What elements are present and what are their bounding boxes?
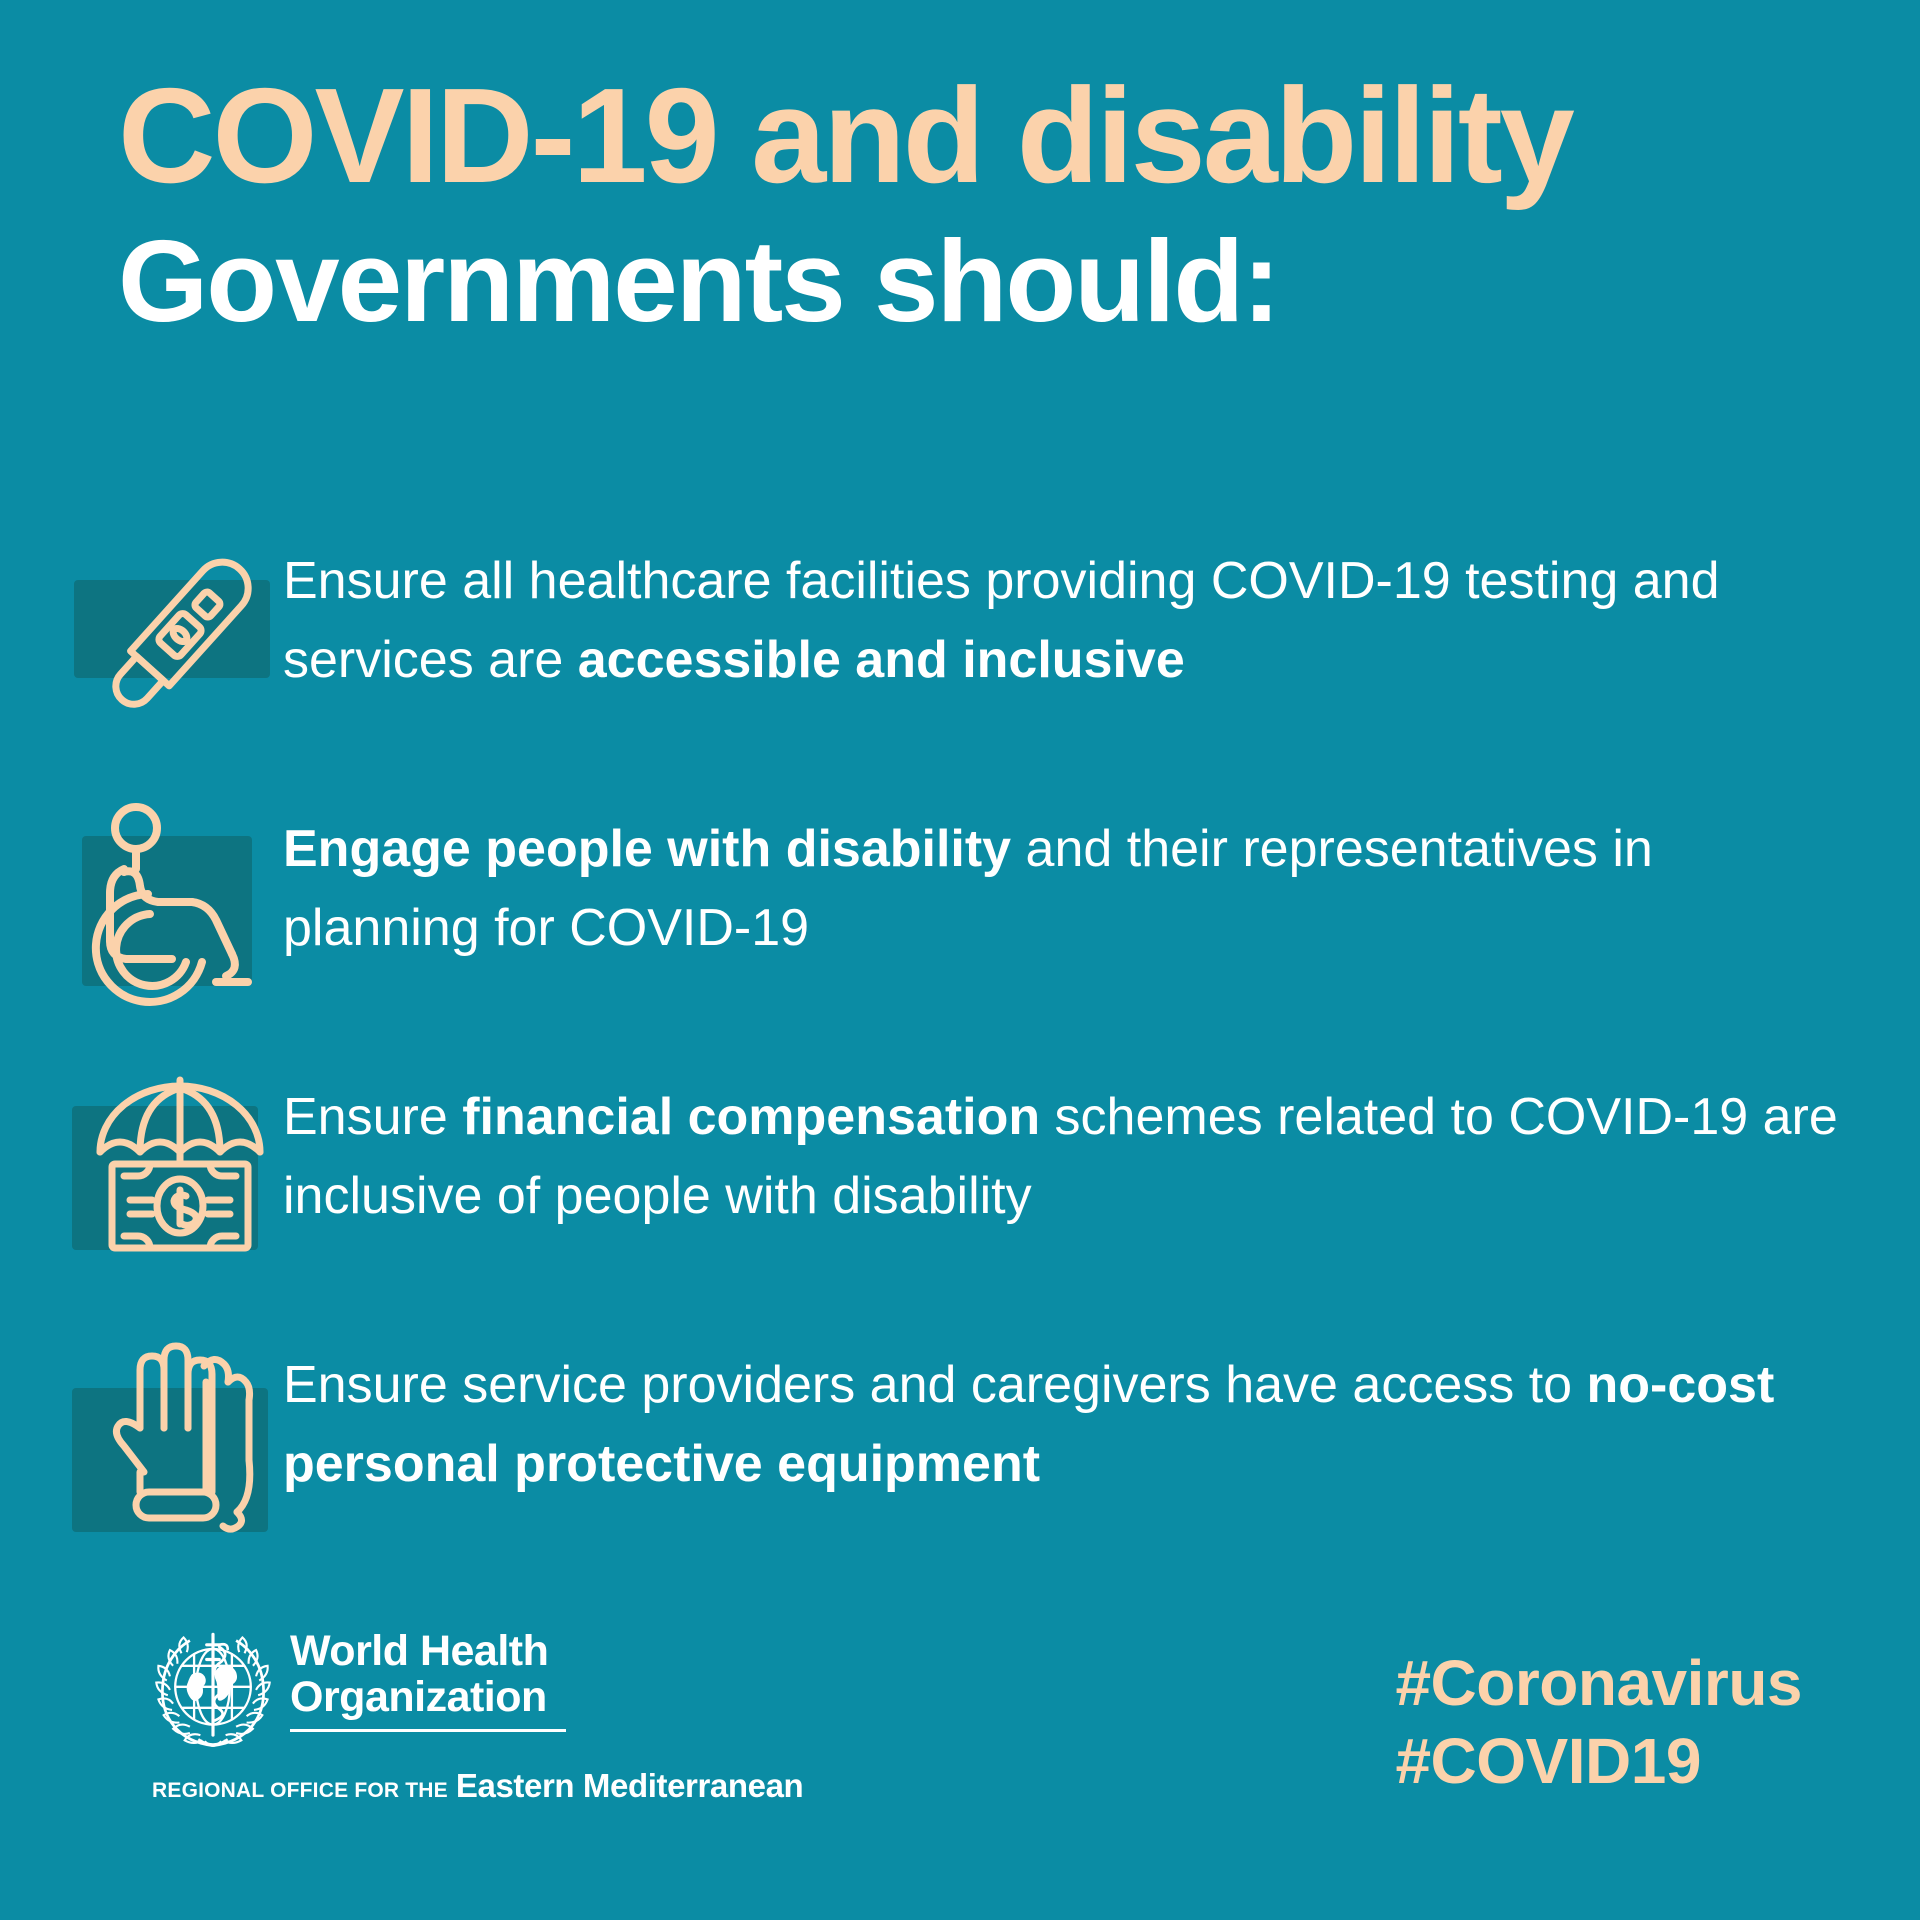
list-item-text: Ensure service providers and caregivers …	[283, 1332, 1860, 1504]
list-item: Ensure service providers and caregivers …	[78, 1332, 1860, 1600]
region-prefix: REGIONAL OFFICE FOR THE	[152, 1779, 448, 1803]
infographic-root: { "colors": { "background": "#0b8ca4", "…	[0, 0, 1920, 1920]
page-header: COVID-19 and disability Governments shou…	[0, 0, 1920, 353]
who-line-2: Organization	[290, 1674, 566, 1720]
text-segment-bold: financial compensation	[462, 1088, 1040, 1146]
list-item-text: Ensure financial compensation schemes re…	[283, 1064, 1860, 1236]
text-segment-bold: Engage people with disability	[283, 820, 1011, 878]
who-line-1: World Health	[290, 1628, 566, 1674]
gloves-icon	[78, 1332, 283, 1547]
who-regional-office: REGIONAL OFFICE FOR THE Eastern Mediterr…	[152, 1767, 803, 1805]
page-subtitle: Governments should:	[118, 211, 1920, 353]
recommendation-list: Ensure all healthcare facilities providi…	[78, 528, 1860, 1600]
page-title: COVID-19 and disability	[118, 60, 1920, 211]
list-item: Ensure financial compensation schemes re…	[78, 1064, 1860, 1332]
page-footer: World Health Organization REGIONAL OFFIC…	[0, 1620, 1920, 1920]
thermometer-icon	[78, 528, 283, 743]
list-item-text: Ensure all healthcare facilities providi…	[283, 528, 1860, 700]
hashtag-coronavirus: #Coronavirus	[1395, 1644, 1802, 1722]
list-item-text: Engage people with disability and their …	[283, 796, 1860, 968]
umbrella-money-icon	[78, 1064, 283, 1279]
text-segment: Ensure	[283, 1088, 462, 1146]
region-name: Eastern Mediterranean	[456, 1767, 803, 1805]
who-logo: World Health Organization REGIONAL OFFIC…	[150, 1628, 803, 1805]
hashtag-covid19: #COVID19	[1395, 1722, 1802, 1800]
who-wordmark: World Health Organization	[290, 1628, 566, 1732]
list-item: Engage people with disability and their …	[78, 796, 1860, 1064]
hashtag-block: #Coronavirus #COVID19	[1395, 1644, 1802, 1800]
list-item: Ensure all healthcare facilities providi…	[78, 528, 1860, 796]
text-segment-bold: accessible and inclusive	[578, 631, 1185, 689]
wheelchair-icon	[78, 796, 283, 1011]
who-divider	[290, 1729, 566, 1732]
who-emblem-icon	[150, 1628, 276, 1754]
text-segment: Ensure service providers and caregivers …	[283, 1356, 1587, 1414]
